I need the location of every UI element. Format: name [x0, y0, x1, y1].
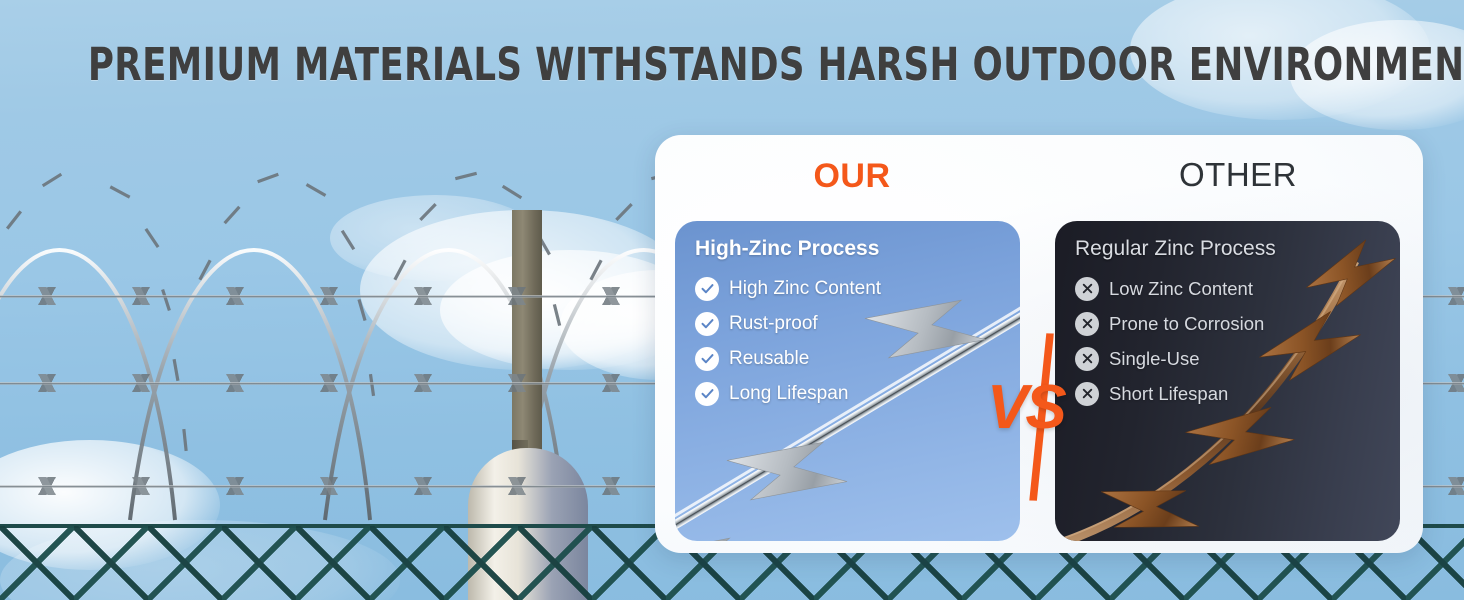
list-item: Short Lifespan	[1075, 376, 1400, 411]
fence-post-upper	[512, 210, 542, 460]
check-circle-icon	[695, 347, 719, 371]
list-item-label: Single-Use	[1109, 348, 1200, 370]
other-column-header: OTHER	[1039, 135, 1423, 203]
other-label: OTHER	[1179, 156, 1297, 194]
list-item: High Zinc Content	[695, 271, 1020, 306]
list-item-label: Short Lifespan	[1109, 383, 1228, 405]
check-circle-icon	[695, 382, 719, 406]
other-panel-content: Regular Zinc Process Low Zinc Content Pr…	[1055, 221, 1400, 411]
other-panel: Regular Zinc Process Low Zinc Content Pr…	[1055, 221, 1400, 541]
list-item: Long Lifespan	[695, 376, 1020, 411]
lightning-bolt-icon	[1028, 333, 1054, 502]
our-panel: High-Zinc Process High Zinc Content Rust…	[675, 221, 1020, 541]
our-label: OUR	[813, 157, 890, 196]
x-circle-icon	[1075, 277, 1099, 301]
check-circle-icon	[695, 312, 719, 336]
list-item: Rust-proof	[695, 306, 1020, 341]
other-panel-title: Regular Zinc Process	[1075, 237, 1400, 261]
comparison-card: OUR OTHER	[655, 135, 1423, 553]
list-item: Prone to Corrosion	[1075, 306, 1400, 341]
list-item: Reusable	[695, 341, 1020, 376]
check-circle-icon	[695, 277, 719, 301]
list-item-label: Prone to Corrosion	[1109, 313, 1264, 335]
list-item: Low Zinc Content	[1075, 271, 1400, 306]
our-column-header: OUR	[655, 135, 1039, 203]
our-panel-content: High-Zinc Process High Zinc Content Rust…	[675, 221, 1020, 411]
list-item: Single-Use	[1075, 341, 1400, 376]
list-item-label: Reusable	[729, 348, 809, 370]
list-item-label: High Zinc Content	[729, 278, 881, 300]
x-circle-icon	[1075, 347, 1099, 371]
comparison-headers: OUR OTHER	[655, 135, 1423, 203]
list-item-label: Long Lifespan	[729, 383, 848, 405]
banner-headline: PREMIUM MATERIALS WITHSTANDS HARSH OUTDO…	[88, 38, 1376, 91]
our-panel-title: High-Zinc Process	[695, 237, 1020, 261]
x-circle-icon	[1075, 312, 1099, 336]
list-item-label: Rust-proof	[729, 313, 818, 335]
promo-banner: PREMIUM MATERIALS WITHSTANDS HARSH OUTDO…	[0, 0, 1464, 600]
list-item-label: Low Zinc Content	[1109, 278, 1253, 300]
x-circle-icon	[1075, 382, 1099, 406]
